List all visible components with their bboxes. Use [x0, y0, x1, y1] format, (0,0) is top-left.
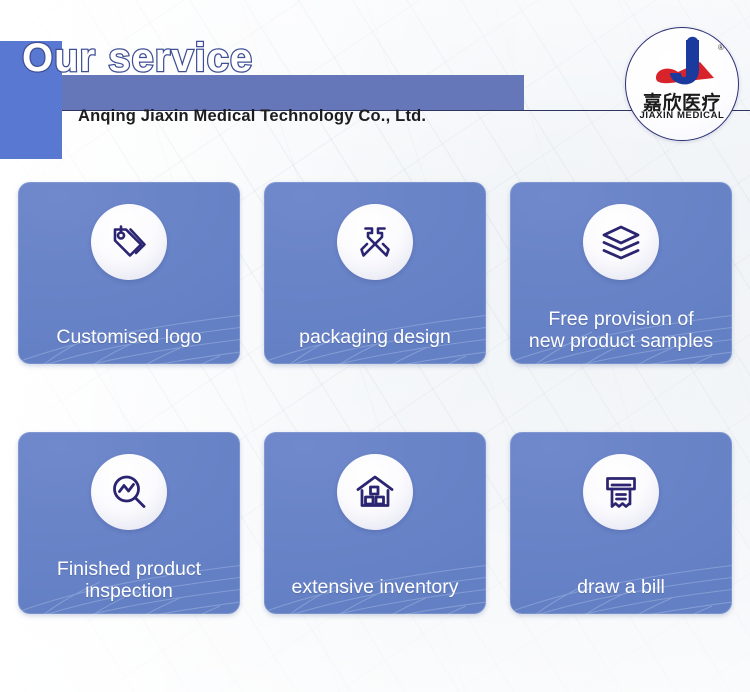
card-label-line: Free provision of: [518, 308, 724, 330]
inspection-magnifier-icon: [91, 454, 167, 530]
service-card-customised-logo[interactable]: Customised logo: [18, 182, 240, 364]
card-label-line: Finished product: [26, 558, 232, 580]
service-card-draw-a-bill[interactable]: draw a bill: [510, 432, 732, 614]
card-label-line: extensive inventory: [272, 576, 478, 598]
design-tools-icon: [337, 204, 413, 280]
card-label: Customised logo: [26, 326, 232, 348]
card-mesh-decoration: [510, 526, 732, 614]
card-label-line: new product samples: [518, 330, 724, 352]
card-label-line: Customised logo: [26, 326, 232, 348]
service-card-finished-product-inspection[interactable]: Finished product inspection: [18, 432, 240, 614]
card-label-line: draw a bill: [518, 576, 724, 598]
service-card-free-samples[interactable]: Free provision of new product samples: [510, 182, 732, 364]
card-label-line: inspection: [26, 580, 232, 602]
price-tags-icon: [91, 204, 167, 280]
card-mesh-decoration: [264, 526, 486, 614]
card-label: Free provision of new product samples: [518, 308, 724, 352]
layers-icon: [583, 204, 659, 280]
card-label: Finished product inspection: [26, 558, 232, 602]
service-card-packaging-design[interactable]: packaging design: [264, 182, 486, 364]
card-mesh-decoration: [18, 276, 240, 364]
card-label-line: packaging design: [272, 326, 478, 348]
card-mesh-decoration: [264, 276, 486, 364]
card-label: packaging design: [272, 326, 478, 348]
service-card-grid: Customised logo packaging design: [0, 0, 750, 692]
card-label: draw a bill: [518, 576, 724, 598]
invoice-receipt-icon: [583, 454, 659, 530]
service-card-extensive-inventory[interactable]: extensive inventory: [264, 432, 486, 614]
card-label: extensive inventory: [272, 576, 478, 598]
warehouse-icon: [337, 454, 413, 530]
